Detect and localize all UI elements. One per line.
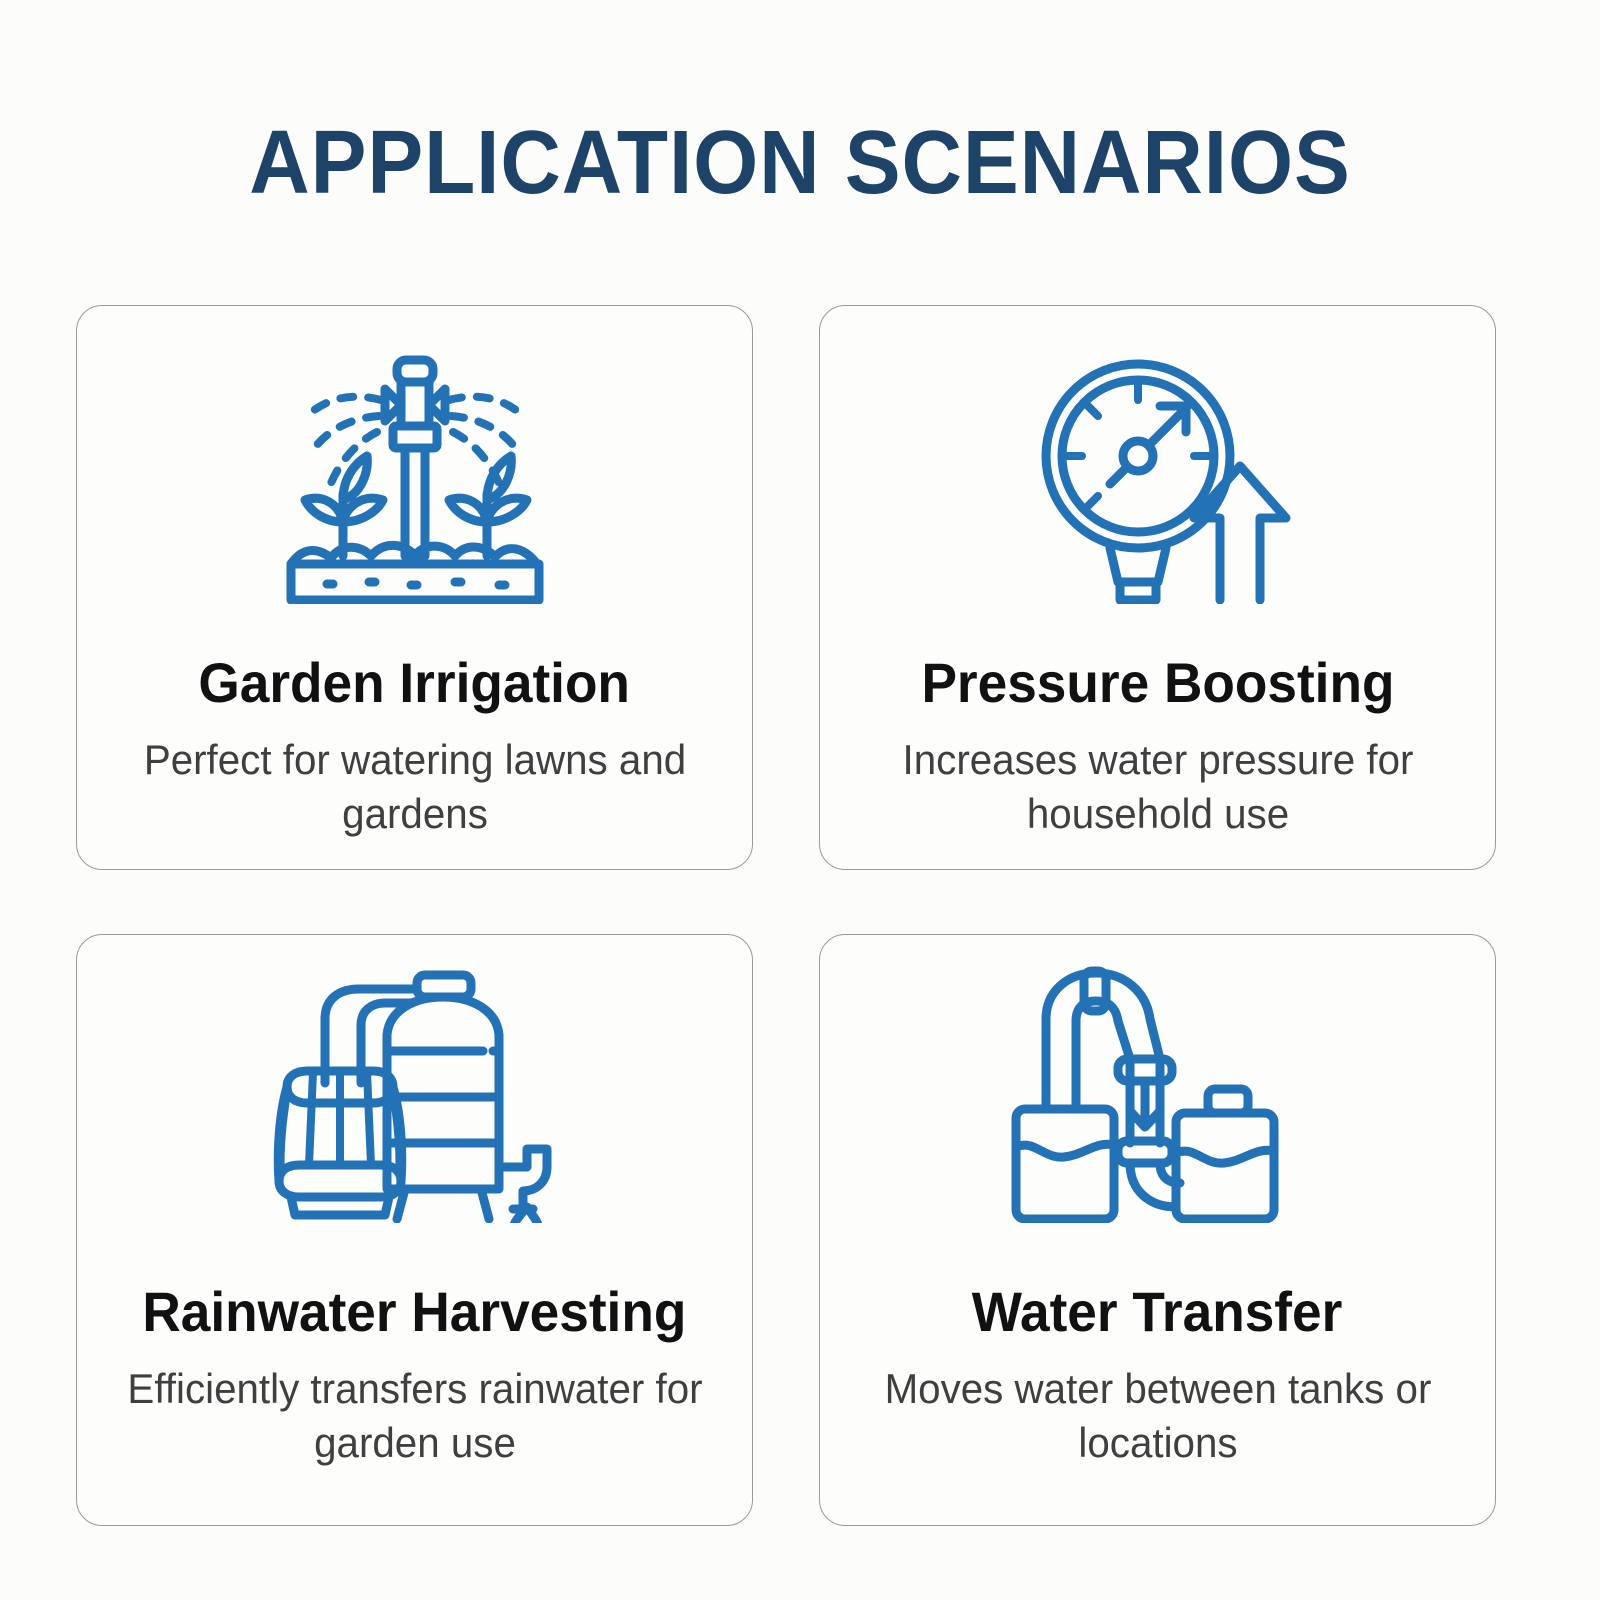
card-description: Increases water pressure for household u… xyxy=(870,733,1446,842)
card-title: Water Transfer xyxy=(972,1283,1343,1342)
card-title: Pressure Boosting xyxy=(921,654,1394,713)
application-scenarios-page: APPLICATION SCENARIOS xyxy=(0,0,1600,1600)
card-description: Moves water between tanks or locations xyxy=(870,1362,1446,1471)
scenario-card-pressure-boosting[interactable]: Pressure Boosting Increases water pressu… xyxy=(819,305,1496,870)
page-title: APPLICATION SCENARIOS xyxy=(56,118,1544,208)
card-description: Perfect for watering lawns and gardens xyxy=(127,733,703,842)
sprinkler-irrigation-icon xyxy=(265,344,565,604)
scenario-card-water-transfer[interactable]: Water Transfer Moves water between tanks… xyxy=(819,934,1496,1526)
card-title: Rainwater Harvesting xyxy=(142,1283,686,1342)
card-title: Garden Irrigation xyxy=(199,654,631,713)
card-description: Efficiently transfers rainwater for gard… xyxy=(127,1362,703,1471)
scenario-card-grid: Garden Irrigation Perfect for watering l… xyxy=(76,305,1526,1525)
scenario-card-garden-irrigation[interactable]: Garden Irrigation Perfect for watering l… xyxy=(76,305,753,870)
barrel-water-tank-tap-icon xyxy=(265,963,565,1223)
scenario-card-rainwater-harvesting[interactable]: Rainwater Harvesting Efficiently transfe… xyxy=(76,934,753,1526)
two-tanks-transfer-pipe-icon xyxy=(1008,963,1308,1223)
pressure-gauge-up-arrow-icon xyxy=(1008,344,1308,604)
